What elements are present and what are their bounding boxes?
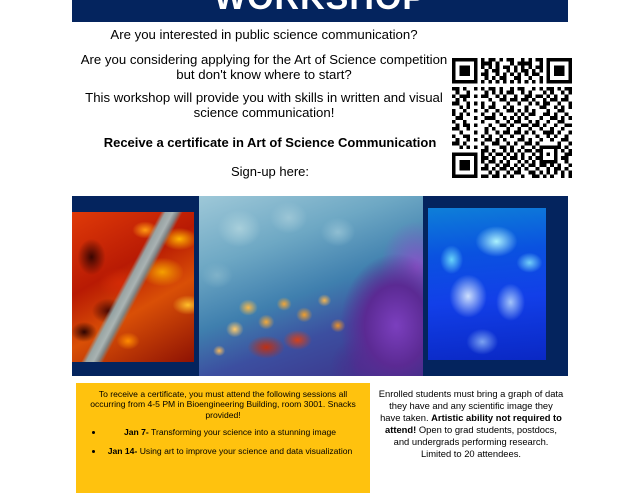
list-item: Jan 14- Using art to improve your scienc…: [104, 446, 356, 456]
intro-question-3: This workshop will provide you with skil…: [74, 91, 454, 121]
micrograph-teal-purple-cells: [199, 196, 423, 376]
session-date: Jan 14-: [108, 446, 138, 456]
page-title: WORKSHOP: [214, 0, 426, 15]
session-details-box: To receive a certificate, you must atten…: [76, 383, 370, 493]
requirements-line-2: Open to grad students, postdocs, and und…: [394, 424, 557, 459]
session-date: Jan 7-: [124, 427, 149, 437]
intro-question-1: Are you interested in public science com…: [74, 28, 454, 43]
requirements-copy: Enrolled students must bring a graph of …: [378, 388, 564, 480]
session-details-lede: To receive a certificate, you must atten…: [86, 389, 360, 420]
session-description: Transforming your science into a stunnin…: [149, 427, 336, 437]
certificate-block: Receive a certificate in Art of Science …: [100, 136, 440, 179]
signup-label: Sign-up here:: [100, 165, 440, 179]
workshop-poster: WORKSHOP Are you interested in public sc…: [0, 0, 640, 480]
session-list: Jan 7- Transforming your science into a …: [86, 427, 360, 456]
certificate-headline: Receive a certificate in Art of Science …: [100, 136, 440, 151]
intro-question-2: Are you considering applying for the Art…: [74, 53, 454, 83]
micrograph-blue-crystals: [428, 208, 546, 360]
requirements-paragraph: Enrolled students must bring a graph of …: [378, 388, 564, 460]
micrograph-red-orange-tissue: [72, 212, 194, 362]
session-description: Using art to improve your science and da…: [137, 446, 352, 456]
intro-copy: Are you interested in public science com…: [74, 28, 454, 130]
qr-code-icon[interactable]: [452, 58, 572, 178]
image-band: [72, 196, 568, 376]
list-item: Jan 7- Transforming your science into a …: [104, 427, 356, 437]
title-banner: WORKSHOP: [72, 0, 568, 22]
